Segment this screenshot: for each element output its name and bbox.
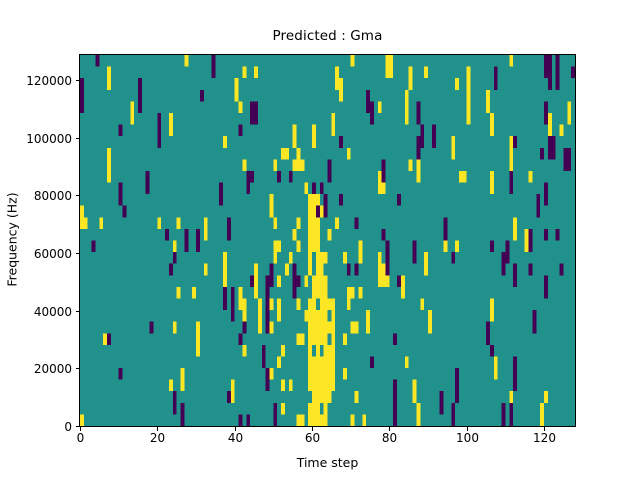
y-tick-label: 80000 [0,189,72,203]
y-tick-mark [76,195,80,196]
matplotlib-figure: Predicted : Gma Time step Frequency (Hz)… [0,0,640,480]
y-tick-label: 100000 [0,132,72,146]
x-axis-label: Time step [79,455,576,470]
x-tick-label: 20 [150,431,165,445]
y-tick-label: 20000 [0,362,72,376]
heatmap-plot-area [79,54,576,427]
y-tick-mark [76,426,80,427]
x-tick-mark [80,427,81,431]
x-tick-label: 40 [228,431,243,445]
y-tick-mark [76,80,80,81]
x-tick-label: 120 [533,431,556,445]
y-tick-label: 40000 [0,305,72,319]
y-tick-mark [76,311,80,312]
x-tick-label: 0 [77,431,85,445]
heatmap-image [80,55,575,426]
x-tick-mark [544,427,545,431]
x-tick-mark [235,427,236,431]
y-tick-mark [76,368,80,369]
x-tick-mark [157,427,158,431]
x-tick-mark [389,427,390,431]
x-tick-mark [467,427,468,431]
y-tick-label: 120000 [0,74,72,88]
page-title: Predicted : Gma [79,28,576,44]
x-tick-label: 60 [305,431,320,445]
x-tick-label: 80 [382,431,397,445]
x-tick-mark [312,427,313,431]
y-tick-mark [76,138,80,139]
y-tick-label: 60000 [0,247,72,261]
y-tick-label: 0 [0,420,72,434]
x-tick-label: 100 [456,431,479,445]
y-tick-mark [76,253,80,254]
